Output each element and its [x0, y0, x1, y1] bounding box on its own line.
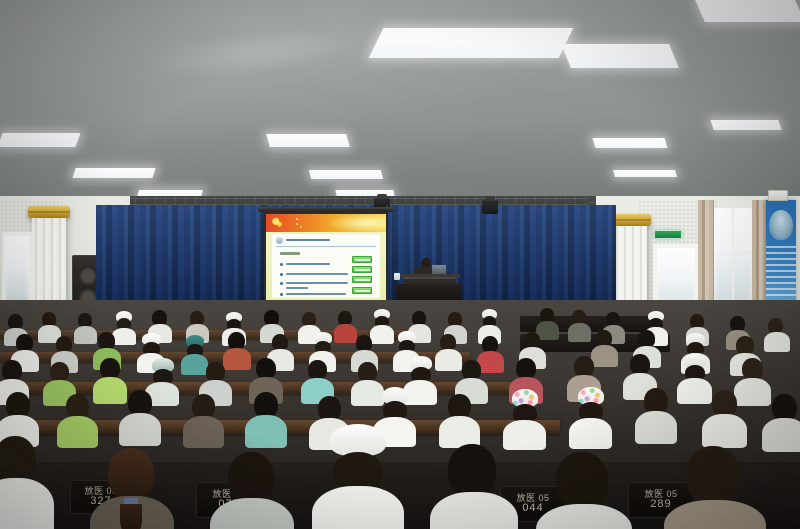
slide-bullet-1-text: 严格执行“手卫生”规范要求: [272, 234, 273, 235]
slide-bullet-marker: [280, 293, 283, 296]
ceiling-light: [72, 168, 155, 178]
slide-bullet-4-text: 加强医疗废物分类收集与规范处置管理: [272, 234, 273, 235]
slide-button-1-label: 知识要点: [353, 257, 354, 258]
slide-title-underline: [276, 246, 376, 247]
presentation-slide: 放射科质量管理与安全 医院感染防控培训课件 落实要点 严格执行“手卫生”规范要求…: [266, 214, 386, 302]
slide-star-dot: [300, 226, 302, 228]
ceiling-shadow: [0, 120, 800, 200]
slide-bullet-text: [286, 282, 348, 284]
slide-bullet-3-text: 规范使用个人防护用品，做好职业暴露防护与上报流程: [272, 234, 273, 235]
slide-button-4-label: 案例分析: [353, 288, 354, 289]
slide-bullet-text: [286, 273, 348, 275]
slide-emblem-icon: [271, 217, 283, 228]
ceiling-light: [613, 170, 677, 177]
slide-action-button[interactable]: 考核标准: [352, 276, 372, 283]
slide-bullet-marker: [280, 263, 283, 266]
seat-plate-number: 044: [522, 503, 543, 515]
ceiling-light: [369, 28, 574, 58]
slide-bullet-marker: [280, 282, 283, 285]
slide-bullet-2-text: 做好诊疗器械与环境物体表面清洁消毒: [272, 234, 273, 235]
window-mullion: [657, 282, 695, 284]
slide-section-label: [280, 252, 300, 255]
slide-star-dot: [296, 223, 298, 225]
slide-action-button[interactable]: 操作流程: [352, 266, 372, 273]
wall-poster-small: [768, 190, 788, 201]
ceiling-light: [695, 0, 800, 22]
slide-bullet-text: [286, 263, 330, 265]
slide-badge-icon: [276, 237, 283, 244]
slide-bullet-marker: [280, 273, 283, 276]
slide-section-label-text: 落实要点: [272, 234, 273, 235]
slide-card-title: [286, 239, 330, 241]
slide-button-2-label: 操作流程: [353, 267, 354, 268]
slide-action-button[interactable]: 案例分析: [352, 287, 372, 294]
column-capital-left: [28, 206, 70, 218]
spotlight: [482, 200, 498, 214]
slide-title-row: 医院感染防控培训课件: [276, 237, 376, 244]
slide-bullet-text: [286, 287, 308, 289]
ceiling-light: [0, 133, 81, 147]
ceiling-light: [593, 138, 668, 148]
ceiling-light: [266, 134, 350, 147]
slide-button-3-label: 考核标准: [353, 277, 354, 278]
exit-sign-label: 安全出口: [655, 231, 656, 232]
seat-plate-number: 289: [650, 499, 671, 511]
lecture-hall-photo: 安全出口 医德医风 放射科质量管理与安全 医院感染防控培训课件: [0, 0, 800, 529]
speaker-cone: [78, 266, 98, 286]
ceiling-light: [561, 44, 679, 68]
exit-sign: 安全出口: [654, 230, 682, 239]
ponytail: [120, 504, 142, 529]
slide-header-glow: [326, 214, 386, 232]
ceiling-light: [309, 170, 383, 179]
slide-star-dot: [296, 218, 298, 220]
banner-portrait: [769, 210, 793, 240]
ceiling-light: [710, 120, 781, 130]
slide-action-button[interactable]: 知识要点: [352, 256, 372, 263]
slide-bullet-text: [286, 293, 346, 295]
banner-heading: 医德医风: [766, 200, 767, 201]
